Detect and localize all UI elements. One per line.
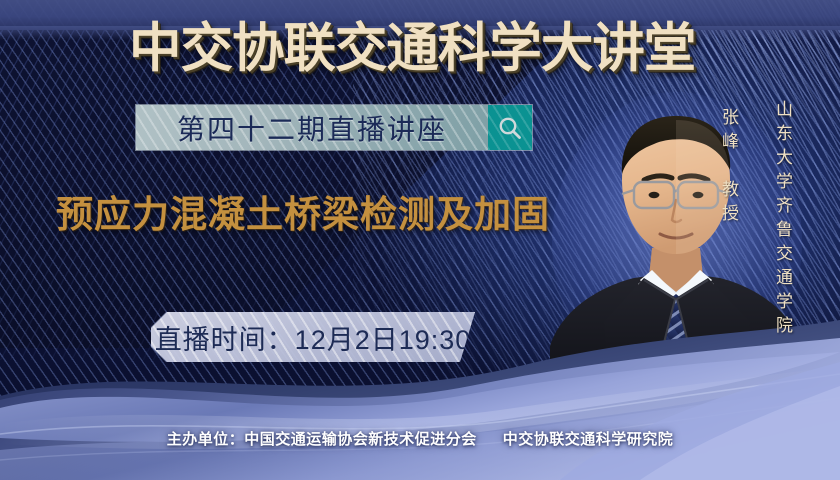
footer-organizer-label: 主办单位： xyxy=(167,431,245,448)
page-title: 中交协联交通科学大讲堂 xyxy=(129,18,708,80)
livestream-poster: 中交协联交通科学大讲堂 第四十二期直播讲座 预应力混凝土桥梁检测及加固 直播时间… xyxy=(0,0,840,480)
footer-organizer-secondary: 中交协联交通科学研究院 xyxy=(503,431,674,448)
lecture-title: 预应力混凝土桥梁检测及加固 xyxy=(56,190,576,240)
footer-organizer-primary: 中国交通运输协会新技术促进分会 xyxy=(244,431,477,448)
livestream-time-badge: 直播时间：12月2日19:30 xyxy=(151,312,475,362)
speaker-affiliation: 山东大学齐鲁交通学院 xyxy=(770,100,795,320)
search-button[interactable] xyxy=(488,105,532,150)
footer-organizers: 主办单位：中国交通运输协会新技术促进分会中交协联交通科学研究院 xyxy=(0,428,840,449)
episode-bar[interactable]: 第四十二期直播讲座 xyxy=(135,104,533,151)
livestream-time-label: 直播时间：12月2日19:30 xyxy=(155,318,472,357)
search-icon xyxy=(497,115,523,141)
speaker-name-title: 张峰 教授 xyxy=(716,108,741,288)
episode-label: 第四十二期直播讲座 xyxy=(177,108,447,148)
episode-bar-background: 第四十二期直播讲座 xyxy=(136,105,488,150)
